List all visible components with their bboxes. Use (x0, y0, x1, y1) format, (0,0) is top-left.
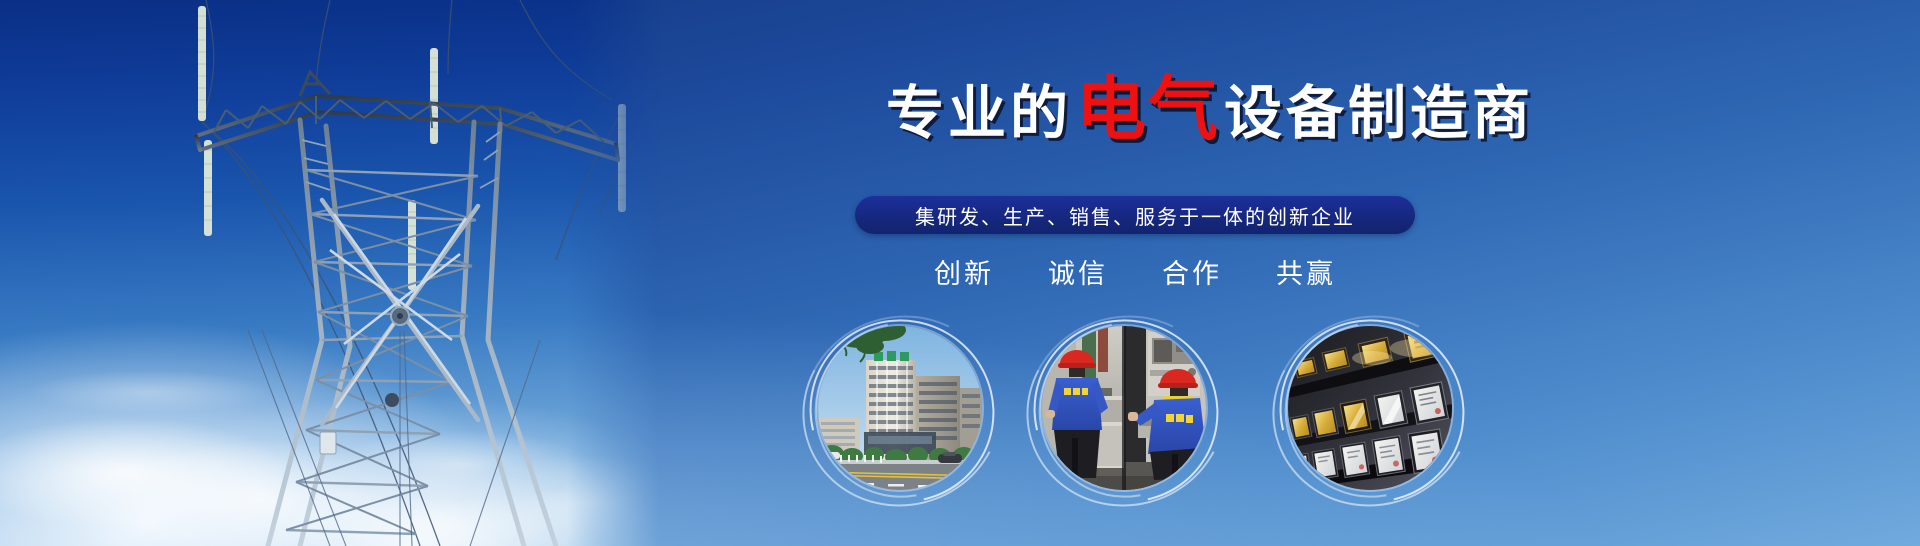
photo-circle-workers (1042, 326, 1206, 490)
keyword-integrity: 诚信 (1048, 252, 1108, 291)
photo-circle-group (810, 326, 1600, 526)
subtitle-pill: 集研发、生产、销售、服务于一体的创新企业 (855, 196, 1415, 234)
office-building-photo (818, 326, 982, 490)
transmission-tower-photo (0, 0, 660, 546)
keyword-cooperation: 合作 (1162, 252, 1222, 291)
workers-installation-photo (1042, 326, 1206, 490)
certificate-wall-photo (1288, 326, 1452, 490)
keyword-innovation: 创新 (934, 252, 994, 291)
photo-circle-certificates (1288, 326, 1452, 490)
page-title: 专业的电气设备制造商 (660, 74, 1760, 144)
keyword-row: 创新 诚信 合作 共赢 (855, 252, 1415, 291)
promo-banner: 专业的电气设备制造商 集研发、生产、销售、服务于一体的创新企业 创新 诚信 合作… (0, 0, 1920, 546)
banner-content: 专业的电气设备制造商 集研发、生产、销售、服务于一体的创新企业 创新 诚信 合作… (660, 0, 1920, 546)
subtitle-text: 集研发、生产、销售、服务于一体的创新企业 (915, 201, 1355, 230)
pylon-lattice-graphic (0, 0, 660, 546)
headline-suffix: 设备制造商 (1224, 81, 1534, 146)
headline-highlight: 电气 (1076, 70, 1220, 148)
photo-circle-office-building (818, 326, 982, 490)
keyword-winwin: 共赢 (1276, 252, 1336, 291)
headline-prefix: 专业的 (886, 81, 1072, 146)
